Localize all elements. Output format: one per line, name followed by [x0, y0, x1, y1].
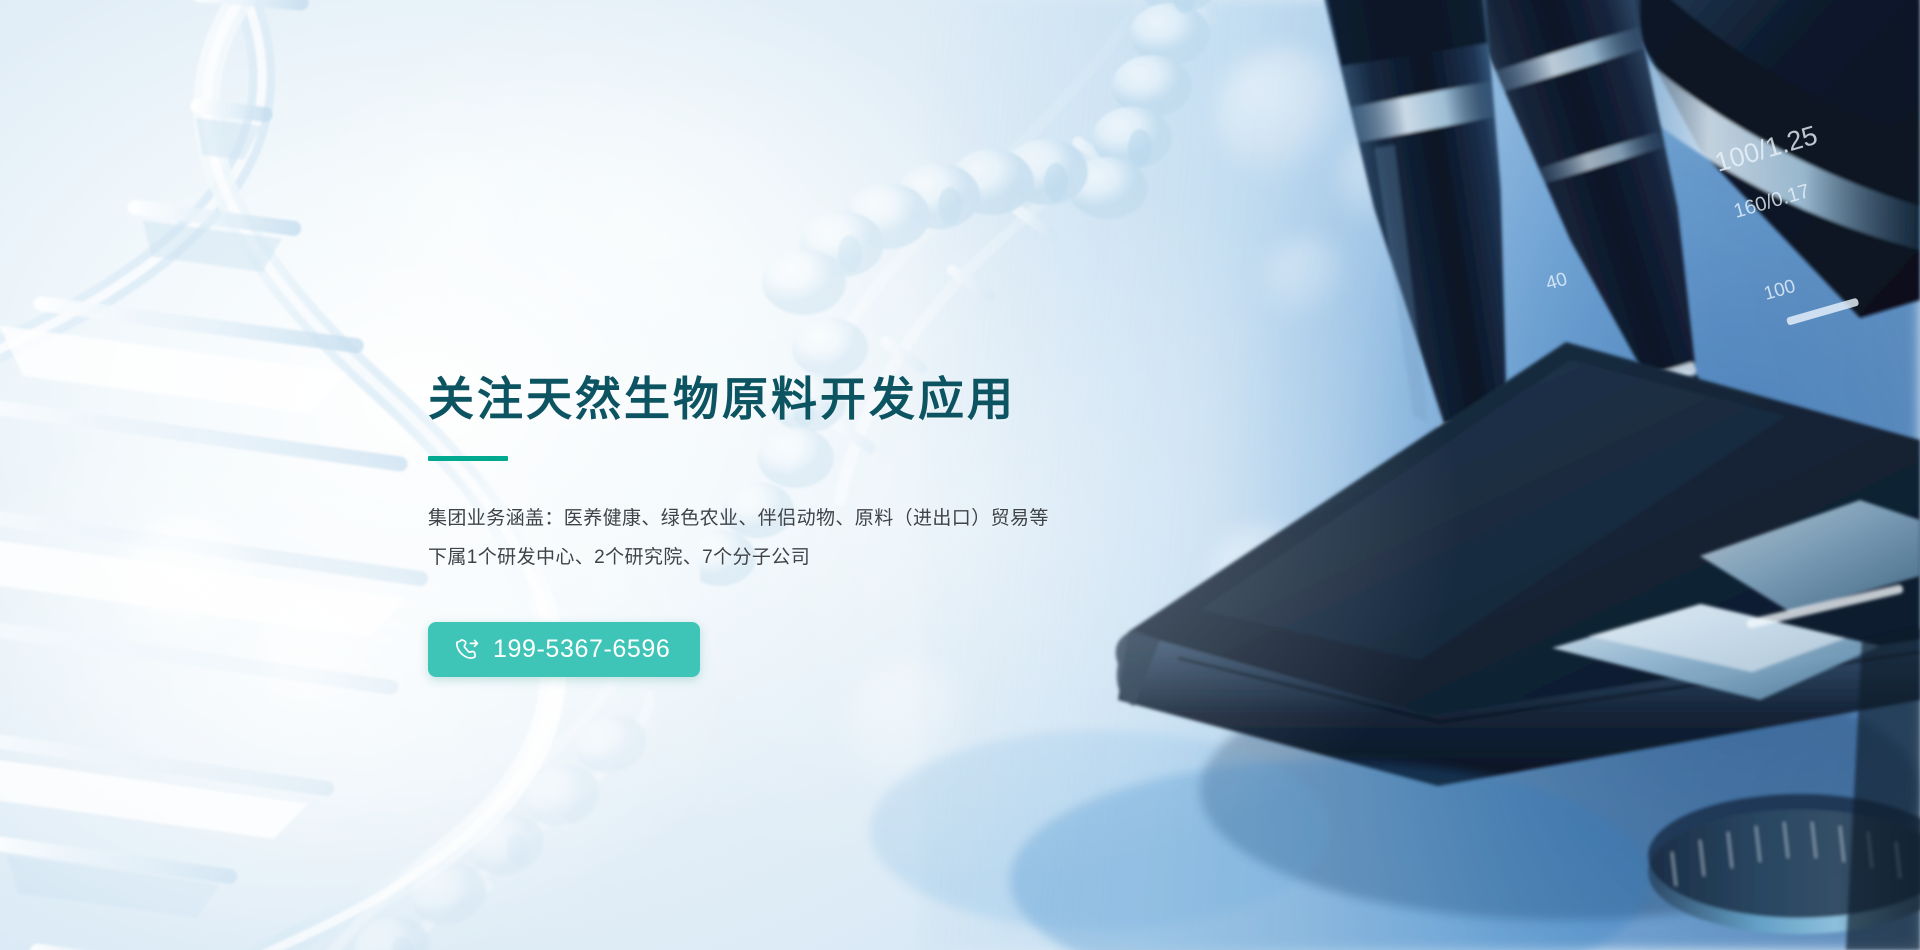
subtitle-line-2: 下属1个研发中心、2个研究院、7个分子公司	[428, 538, 1248, 577]
phone-number-label: 199-5367-6596	[493, 637, 670, 662]
hero-subtitle: 集团业务涵盖：医养健康、绿色农业、伴侣动物、原料（进出口）贸易等 下属1个研发中…	[428, 499, 1248, 577]
hero-banner: 100/1.25 160/0.17 40 100	[0, 0, 1920, 950]
phone-cta-button[interactable]: 199-5367-6596	[428, 622, 700, 677]
page-title: 关注天然生物原料开发应用	[428, 372, 1248, 426]
subtitle-line-1: 集团业务涵盖：医养健康、绿色农业、伴侣动物、原料（进出口）贸易等	[428, 499, 1248, 538]
phone-forward-icon	[453, 636, 480, 663]
title-divider	[428, 456, 508, 461]
hero-content: 关注天然生物原料开发应用 集团业务涵盖：医养健康、绿色农业、伴侣动物、原料（进出…	[428, 372, 1248, 677]
